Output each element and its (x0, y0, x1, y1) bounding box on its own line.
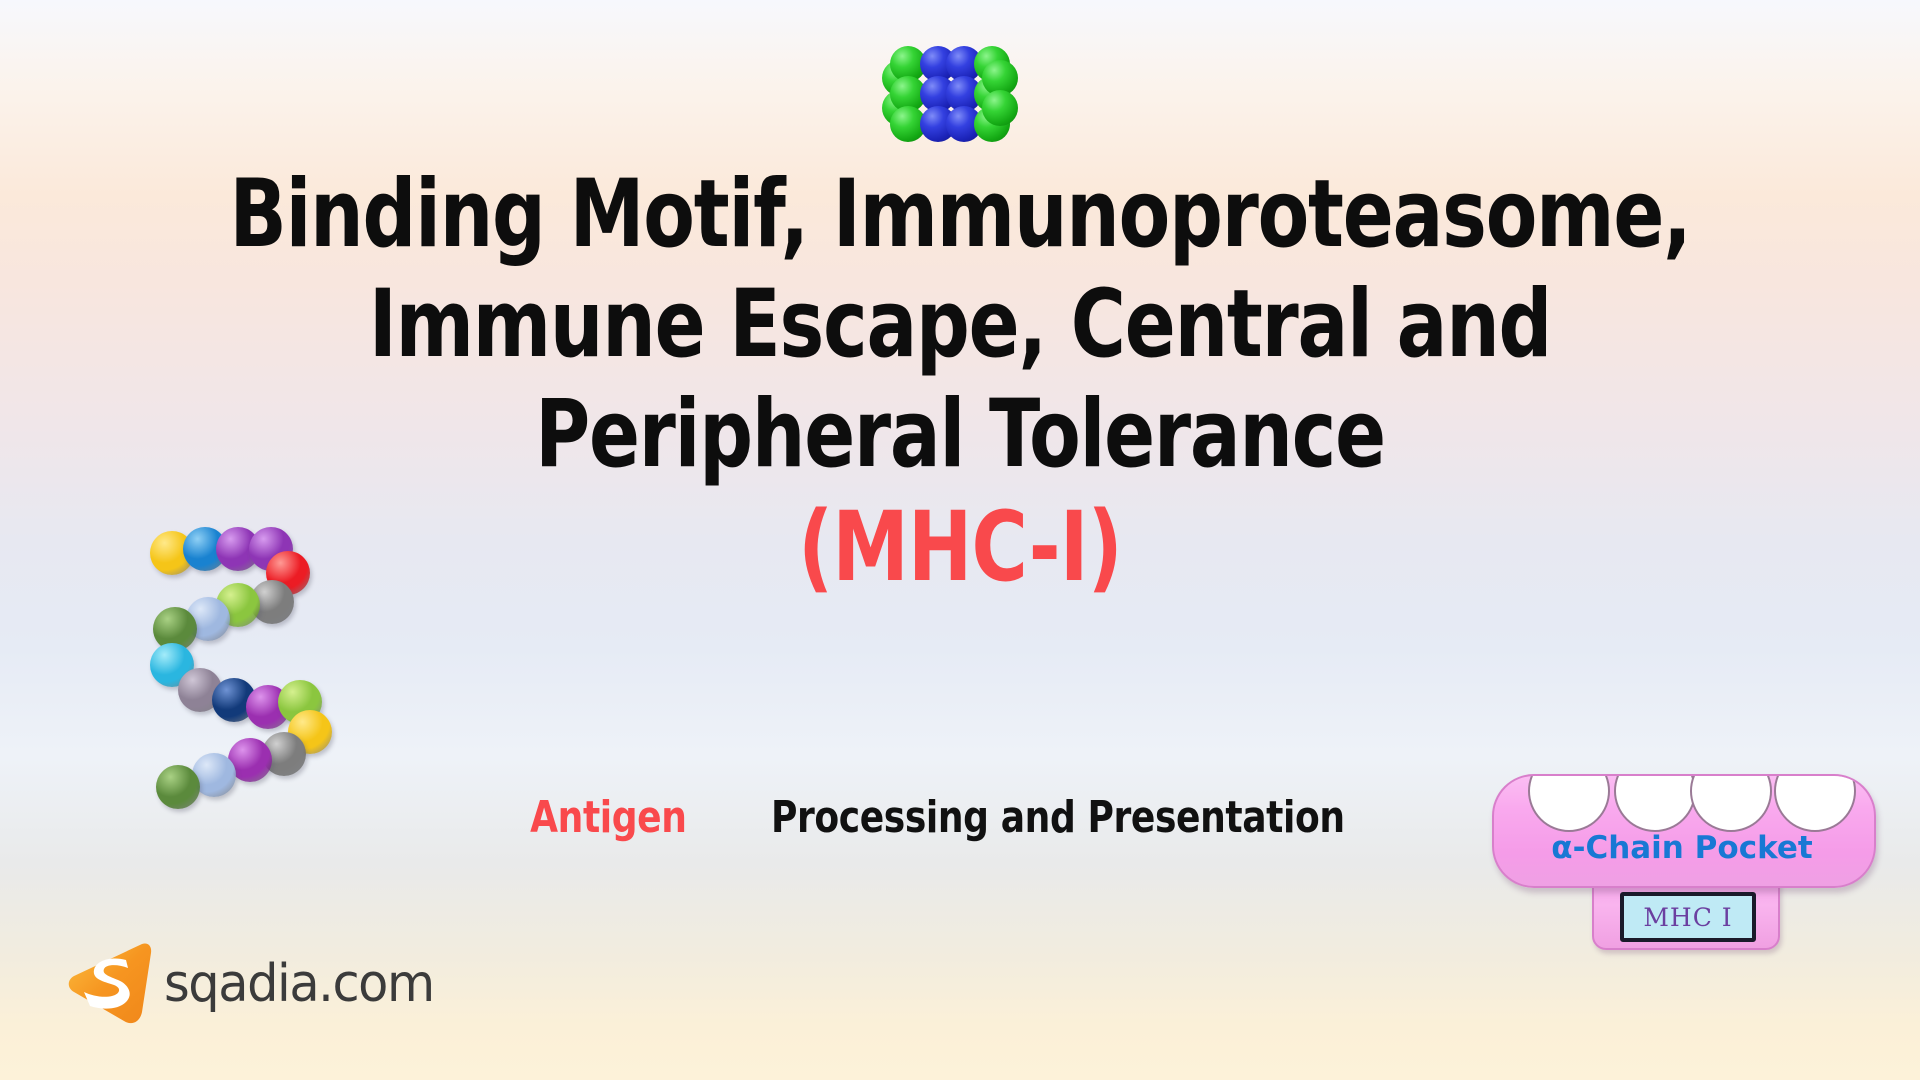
mhc-i-badge: MHC I (1620, 892, 1756, 942)
sqadia-logo[interactable]: sqadia.com (68, 940, 388, 1032)
pocket-label: α-Chain Pocket (1492, 830, 1872, 866)
pocket-notch (1528, 774, 1610, 832)
pocket-notch (1690, 774, 1772, 832)
mhc-pocket-diagram: α-Chain Pocket MHC I (1492, 770, 1872, 960)
pocket-notch (1614, 774, 1696, 832)
title-line-1: Binding Motif, Immunoproteasome, (192, 160, 1728, 270)
pocket-notch (1774, 774, 1856, 832)
peptide-bead-chain-icon (150, 525, 360, 835)
molecule-icon (880, 42, 1020, 152)
slide-root: Binding Motif, Immunoproteasome, Immune … (0, 0, 1920, 1080)
subtitle-rest: Processing and Presentation (771, 792, 1345, 843)
sqadia-logo-text: sqadia.com (164, 954, 434, 1014)
mhc-i-badge-text: MHC I (1643, 903, 1732, 932)
title-highlight-mhc: (MHC-I) (192, 494, 1728, 602)
title-line-2: Immune Escape, Central and (192, 270, 1728, 380)
peptide-bead (156, 765, 200, 809)
subtitle-accent-word: Antigen (530, 792, 686, 843)
title-line-3: Peripheral Tolerance (192, 380, 1728, 490)
sqadia-logo-mark-icon (68, 940, 154, 1028)
molecule-sphere (982, 90, 1018, 126)
